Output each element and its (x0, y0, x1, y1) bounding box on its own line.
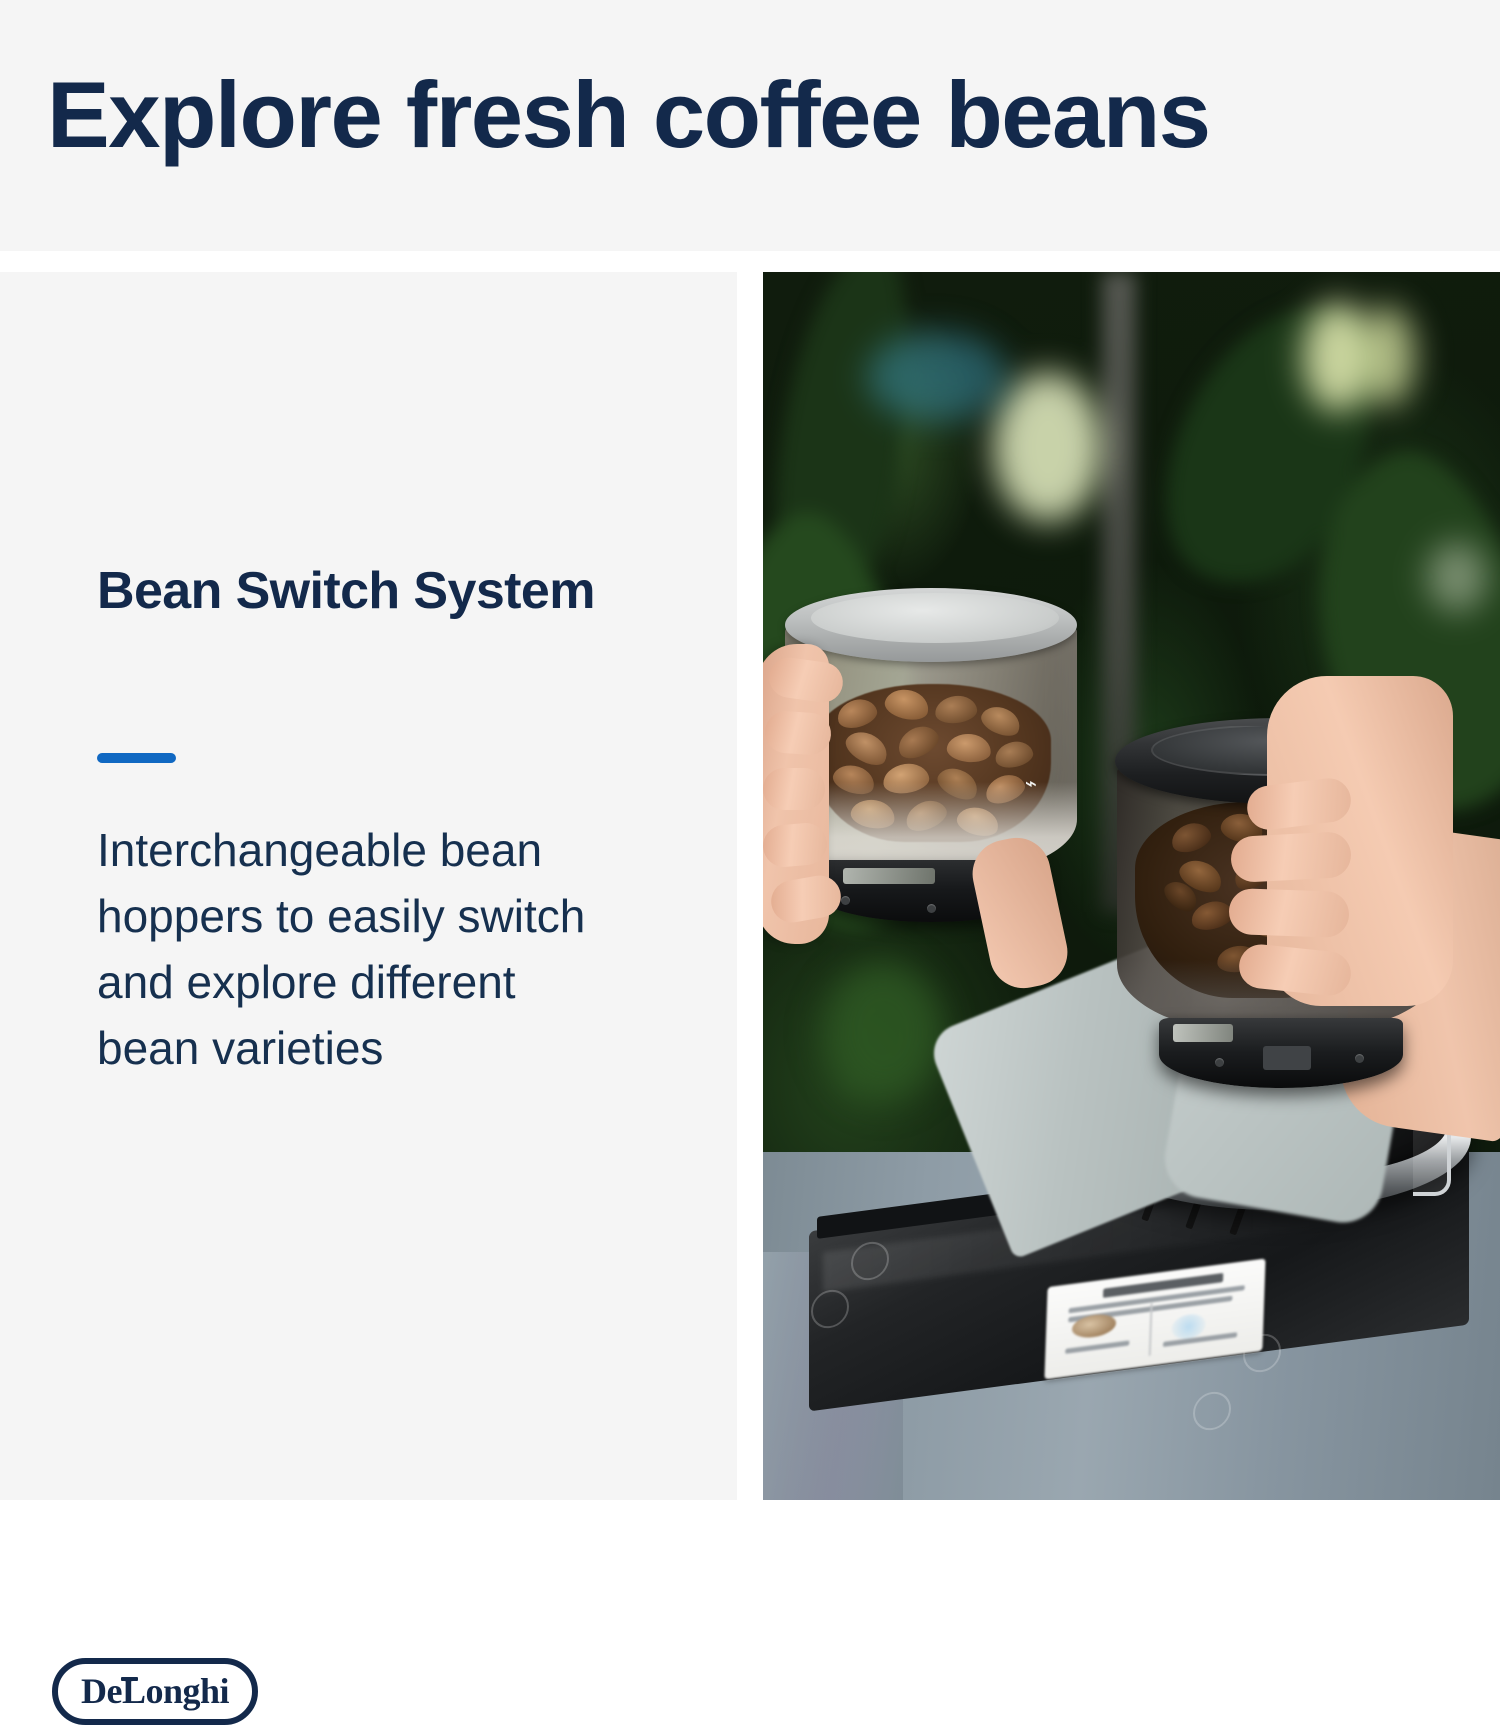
highlight-glow (1427, 542, 1487, 612)
finger (763, 768, 825, 810)
base-screw (1215, 1058, 1224, 1067)
delonghi-logo: DeLonghi (52, 1658, 258, 1725)
hopper-lid (785, 588, 1077, 662)
hopper-base-ring (1159, 1018, 1403, 1088)
highlight-glow (1359, 306, 1415, 406)
macron-accent-icon (121, 1677, 138, 1681)
switch-mode-divider (1149, 1303, 1153, 1356)
feature-heading: Bean Switch System (97, 560, 657, 622)
base-alignment-tab (1263, 1046, 1311, 1070)
base-contact-strip (843, 868, 935, 884)
accent-divider (97, 753, 176, 763)
highlight-glow (993, 372, 1103, 522)
base-screw (1355, 1054, 1364, 1063)
page-title: Explore fresh coffee beans (47, 63, 1210, 167)
highlight-glow (867, 332, 1007, 422)
finger (1228, 888, 1350, 938)
base-contact-strip (1173, 1024, 1233, 1042)
feature-description: Interchangeable bean hoppers to easily s… (97, 817, 617, 1081)
feature-text-panel: Bean Switch System Interchangeable bean … (0, 272, 737, 1500)
finger (1230, 831, 1352, 883)
delonghi-logo-text: DeLonghi (81, 1670, 229, 1712)
finger (764, 710, 833, 757)
header-band: Explore fresh coffee beans (0, 0, 1500, 251)
hopper-brand-mark-icon: ⌁ (1025, 774, 1041, 796)
switch-mode-caption (1065, 1340, 1129, 1353)
base-screw (927, 904, 936, 913)
promo-card: Explore fresh coffee beans Bean Switch S… (0, 0, 1500, 1500)
product-photo: ⌁ (763, 272, 1500, 1500)
hopper-lid-top (811, 593, 1059, 643)
highlight-glow (823, 962, 943, 1102)
base-screw (841, 896, 850, 905)
